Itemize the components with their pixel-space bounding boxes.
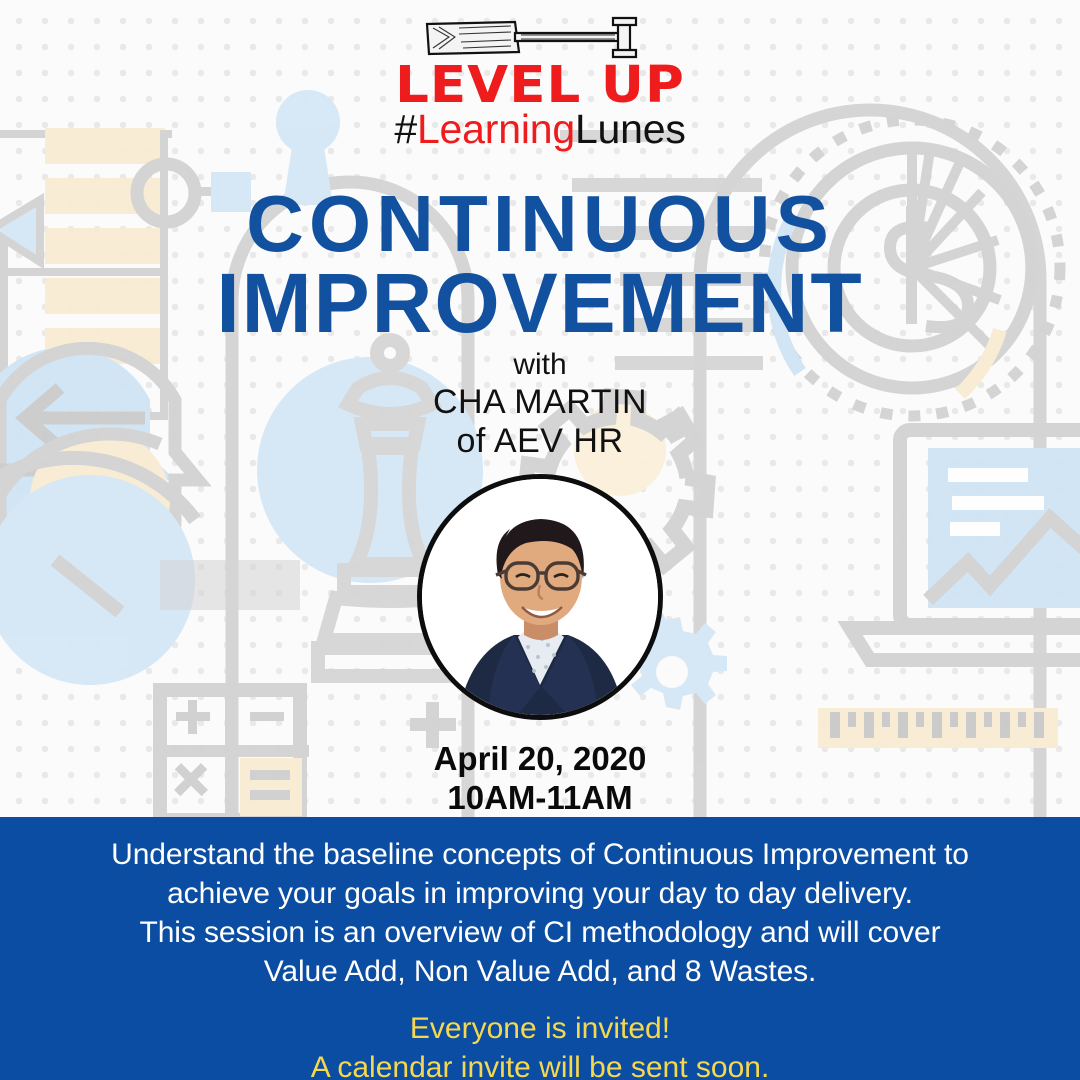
brand-logo: LEVEL UP: [0, 12, 1080, 111]
hashtag-symbol: #: [394, 106, 417, 152]
page-title: CONTINUOUS IMPROVEMENT: [0, 186, 1080, 343]
speaker-name: CHA MARTIN: [0, 383, 1080, 422]
title-line-1: CONTINUOUS: [246, 179, 834, 268]
footer-description-line-1: Understand the baseline concepts of Cont…: [0, 835, 1080, 874]
speaker-org: of AEV HR: [0, 422, 1080, 461]
schedule-block: April 20, 2020 10AM-11AM: [0, 740, 1080, 818]
title-line-2: IMPROVEMENT: [0, 263, 1080, 344]
footer-description-line-2: achieve your goals in improving your day…: [0, 874, 1080, 913]
hashtag-highlight: Learning: [417, 106, 575, 152]
footer-cta-line-1: Everyone is invited!: [0, 1009, 1080, 1048]
hashtag-rest: Lunes: [575, 106, 686, 152]
footer-description-line-3: This session is an overview of CI method…: [0, 913, 1080, 952]
footer-description: Understand the baseline concepts of Cont…: [0, 835, 1080, 991]
footer-cta: Everyone is invited! A calendar invite w…: [0, 1009, 1080, 1080]
footer-cta-line-2: A calendar invite will be sent soon.: [0, 1048, 1080, 1080]
footer-band: Understand the baseline concepts of Cont…: [0, 817, 1080, 1080]
speaker-info: with CHA MARTIN of AEV HR: [0, 348, 1080, 462]
event-time: 10AM-11AM: [0, 779, 1080, 818]
speaker-with-label: with: [0, 348, 1080, 383]
avatar: [422, 479, 658, 715]
poster-canvas: LEVEL UP #LearningLunes CONTINUOUS IMPRO…: [0, 0, 1080, 1080]
logo-wordmark: LEVEL UP: [0, 60, 1080, 111]
footer-description-line-4: Value Add, Non Value Add, and 8 Wastes.: [0, 952, 1080, 991]
speaker-portrait: [417, 474, 663, 720]
event-date: April 20, 2020: [0, 740, 1080, 779]
hashtag-line: #LearningLunes: [0, 106, 1080, 153]
